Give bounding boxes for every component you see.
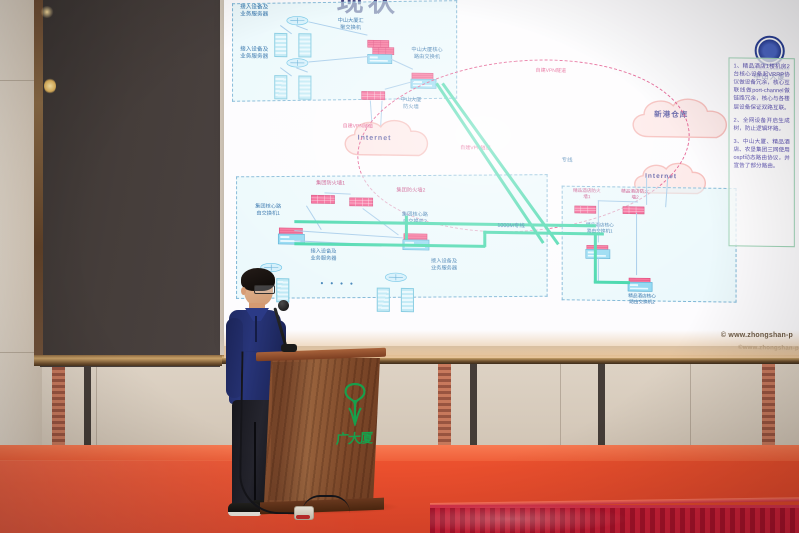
server-icon	[377, 288, 390, 312]
wall-lamp-icon	[40, 6, 54, 18]
device-label-agg-switch: 中山大厦汇 聚交换机	[327, 18, 375, 32]
trunk-line-teal	[405, 216, 408, 240]
server-icon	[298, 75, 311, 99]
agg-switch-lower-icon	[367, 52, 393, 65]
server-icon	[298, 33, 311, 57]
ellipsis-dots: ••••	[320, 279, 359, 289]
region-label-access-2: 接入设备及 业务服务器	[240, 46, 268, 60]
link-line	[598, 200, 599, 242]
notes-panel: 1、精品酒店1楼机房2台核心设备起VRRP协议做设备冗余，核心互联线做port-…	[729, 57, 795, 247]
link-line	[636, 213, 637, 275]
hotel-firewall-1-icon	[574, 202, 598, 213]
device-label-hotel-fw2: 精品酒店防火 墙2	[614, 188, 656, 201]
link-line	[646, 177, 647, 205]
server-icon	[274, 33, 287, 57]
carpet-far-edge	[0, 445, 799, 461]
panel-gold-base	[34, 355, 222, 366]
hotel-core-switch-2-icon	[627, 280, 653, 293]
trunk-line-teal	[594, 232, 597, 282]
link-line	[598, 259, 599, 283]
speaker-shirt-placket	[255, 316, 257, 342]
stage-haze	[430, 505, 630, 533]
microphone-icon	[278, 300, 289, 311]
region-label-group-access-2: 接入设备及 业务服务器	[421, 258, 467, 272]
device-label-group-fw2: 集团防火墙2	[387, 187, 435, 194]
server-icon	[401, 288, 414, 312]
speaker-ear	[241, 287, 246, 295]
group-firewall-2-icon	[349, 195, 375, 208]
podium-emblem-icon	[340, 380, 370, 426]
note-1: 1、精品酒店1楼机房2台核心设备起VRRP协议做设备冗余，核心互联线做port-…	[734, 62, 790, 112]
zhongshan-firewall-icon	[361, 88, 387, 101]
group-firewall-1-icon	[310, 192, 336, 205]
vpn-label-3: 自建VPN隧道	[536, 67, 566, 74]
projection-screen: 现状 ZHONGSHAN MANSION 中山大厦 接入设备及 业务服务器 接入…	[224, 0, 799, 346]
dedicated-line-label: 1000M专线	[497, 221, 524, 229]
glasses-icon	[254, 285, 275, 294]
dark-wall-panel	[40, 0, 220, 367]
note-3: 3、中山大厦、精品酒店、农垦集团三网使用ospf动态路由协议，并宣告了部分路由。	[734, 138, 790, 171]
device-label-core-switch: 中山大厦核心 路由交换机	[401, 47, 453, 61]
cable	[239, 351, 310, 514]
access-switch-icon	[286, 55, 308, 66]
access-switch-icon	[286, 13, 308, 24]
access-switch-icon	[385, 270, 407, 281]
device-label-hotel-core2: 精品酒店核心 路由交换机2	[618, 293, 666, 306]
dedicated-line-label-2: 专线	[562, 155, 573, 163]
photo-watermark: © www.zhongshan-p	[721, 332, 793, 339]
panel-gold-edge	[34, 0, 43, 355]
power-plug-indicator	[296, 515, 310, 519]
hotel-firewall-2-icon	[622, 203, 646, 214]
device-label-group-core1: 集团核心路 由交换机1	[244, 203, 292, 217]
note-2: 2、全网设备开启生成树，防止逻辑环路。	[734, 116, 790, 133]
vpn-label-1: 自建VPN隧道	[343, 122, 373, 129]
trunk-line-teal	[594, 281, 630, 284]
wall-lamp-icon	[44, 78, 56, 94]
device-label-group-fw1: 集团防火墙1	[306, 180, 354, 187]
server-icon	[274, 75, 287, 99]
presentation-slide: 现状 ZHONGSHAN MANSION 中山大厦 接入设备及 业务服务器 接入…	[224, 0, 799, 356]
conference-hall-photo: 现状 ZHONGSHAN MANSION 中山大厦 接入设备及 业务服务器 接入…	[0, 0, 799, 533]
device-label-hotel-fw1: 精品酒店防火 墙1	[566, 188, 608, 201]
region-label-access-1: 接入设备及 业务服务器	[240, 4, 268, 18]
podium-text: 广大厦	[336, 427, 373, 447]
region-label-group-access: 接入设备及 业务服务器	[300, 248, 346, 262]
microphone-base	[281, 344, 297, 352]
